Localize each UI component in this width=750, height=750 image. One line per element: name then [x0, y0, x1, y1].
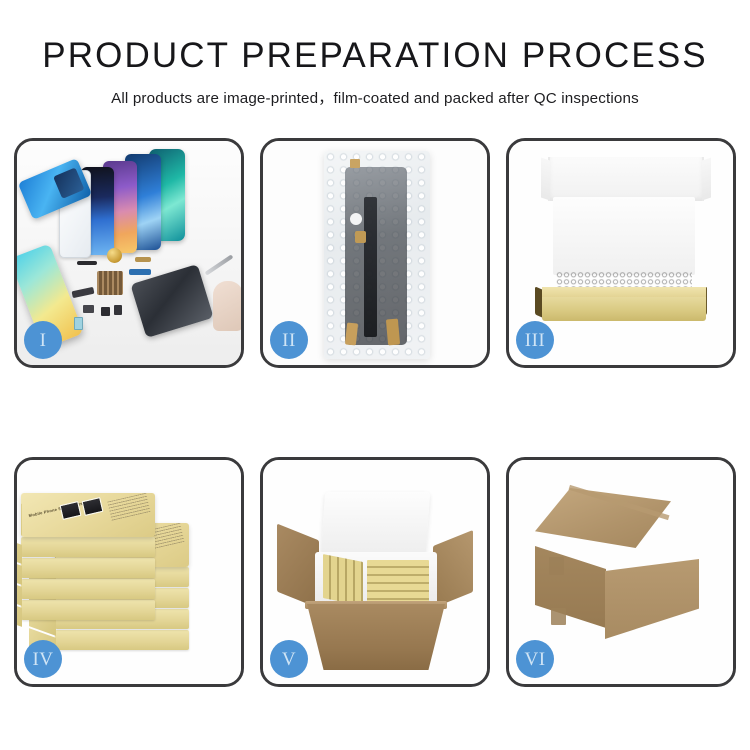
yellow-boxes-right-group — [367, 560, 429, 602]
header: PRODUCT PREPARATION PROCESS All products… — [0, 0, 750, 108]
box-window-1 — [60, 501, 82, 520]
styrofoam-lid — [321, 492, 430, 554]
speaker-part — [77, 261, 97, 265]
process-step-grid: I II — [14, 138, 736, 687]
carton-left-face — [535, 546, 606, 628]
yellow-boxes-left-group — [323, 554, 363, 606]
carton-body — [307, 604, 445, 670]
small-part-3 — [114, 305, 122, 315]
screw-set — [97, 271, 123, 295]
technician-hand — [213, 281, 241, 331]
white-foam-sheet — [553, 197, 695, 275]
box-front-panel — [542, 296, 706, 321]
product-preparation-infographic: PRODUCT PREPARATION PROCESS All products… — [0, 0, 750, 750]
yellow-tab-2 — [355, 231, 366, 243]
box-spec-lines — [107, 493, 150, 521]
carton-flap-left — [277, 524, 319, 609]
stacked-box — [21, 537, 155, 557]
step-badge-6: VI — [516, 640, 554, 678]
small-part-4 — [74, 317, 83, 330]
carton-tape-patch-2 — [551, 608, 566, 625]
stacked-box — [55, 630, 189, 650]
small-part-1 — [83, 305, 94, 313]
step-badge-4: IV — [24, 640, 62, 678]
step-badge-5: V — [270, 640, 308, 678]
wrapped-part-highlight — [350, 213, 362, 225]
page-title: PRODUCT PREPARATION PROCESS — [0, 38, 750, 73]
box-lid-open — [548, 157, 704, 201]
carton-right-face — [605, 559, 699, 639]
tweezers-tool — [205, 254, 234, 275]
yellow-tab-1 — [350, 159, 360, 168]
step-panel-1: I — [14, 138, 244, 368]
carton-tape-patch-1 — [549, 557, 564, 575]
step-badge-3: III — [516, 321, 554, 359]
step-badge-2: II — [270, 321, 308, 359]
stacked-box — [21, 600, 155, 620]
phone-chassis — [130, 264, 213, 338]
vibration-motor-part — [107, 248, 122, 263]
bubble-wrap-bag — [324, 151, 430, 359]
wrapped-part-strip — [364, 197, 377, 337]
yellow-tab-3 — [345, 322, 358, 345]
box-window-2 — [82, 497, 104, 516]
flex-cable-3 — [135, 257, 151, 262]
step-panel-5: V — [260, 457, 490, 687]
stacked-box — [21, 558, 155, 578]
step-panel-6: VI — [506, 457, 736, 687]
yellow-tab-4 — [386, 319, 400, 346]
carton-flap-right — [433, 530, 473, 608]
stacked-box — [21, 579, 155, 599]
step-panel-3: III — [506, 138, 736, 368]
step-panel-2: II — [260, 138, 490, 368]
small-part-2 — [101, 307, 110, 316]
flex-cable-1 — [72, 287, 95, 298]
step-panel-4: Mobile Phone Spare Parts Mobile Phone Sp… — [14, 457, 244, 687]
flex-cable-2 — [129, 269, 151, 275]
stacked-box-top: Mobile Phone Spare Parts — [21, 493, 155, 537]
page-subtitle: All products are image-printed，film-coat… — [0, 86, 750, 108]
step-badge-1: I — [24, 321, 62, 359]
